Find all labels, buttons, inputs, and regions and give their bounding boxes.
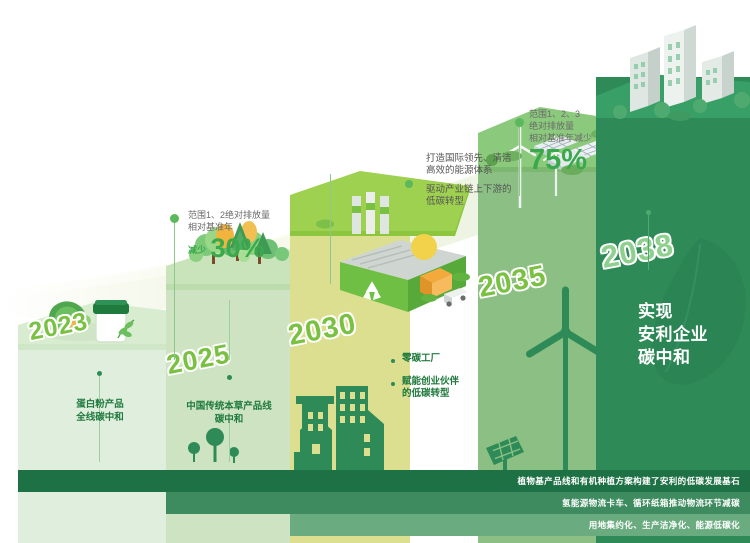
callout-30-line1: 范围1、2绝对排放量 [188, 209, 270, 221]
b2030-m2: 赋能创业伙伴 [402, 376, 459, 388]
band-tail-2025-b [166, 514, 290, 536]
callout-stem-30 [174, 222, 175, 360]
callout-scope123: 范围1、2、3 绝对排放量 相对基准年减少 75% [529, 108, 592, 175]
caption-tick-2038 [648, 214, 649, 270]
bullet-dot-partners [391, 382, 395, 386]
bottom-band-2-text: 氢能源物流卡车、循环纸箱推动物流环节减碳 [562, 497, 750, 509]
band-tail-2023-b [18, 514, 166, 536]
caption-2025-line1: 中国传统本草产品线 [156, 400, 302, 413]
caption-dot-2038 [646, 210, 651, 215]
bottom-band-3: 用地集约化、生产洁净化、能源低碳化 [290, 514, 750, 536]
caption-2023-line2: 全线碳中和 [30, 411, 170, 424]
caption-tick-2025b [229, 420, 230, 462]
callout-75-line2: 绝对排放量 [529, 120, 592, 132]
b2030-t3: 驱动产业链上下游的 [426, 184, 512, 196]
caption-2025-line2: 碳中和 [156, 413, 302, 426]
callout-scope12: 范围1、2绝对排放量 相对基准年 减少 30% [188, 209, 270, 262]
callout-stem-75 [519, 126, 520, 196]
b2030-m3: 的低碳转型 [402, 388, 459, 400]
callout-dot-75 [515, 118, 524, 127]
headline-line3: 碳中和 [638, 346, 708, 369]
bottom-band-1-text: 植物基产品线和有机种植方案构建了安利的低碳发展基石 [517, 475, 750, 487]
final-headline: 实现 安利企业 碳中和 [638, 300, 708, 369]
infographic-root: 2023 [0, 0, 750, 543]
caption-tick-2025 [229, 300, 230, 360]
b2030-t2: 高效的能源体系 [426, 165, 512, 177]
caption-2025: 中国传统本草产品线 碳中和 [156, 400, 302, 426]
callout-75-value: 75% [529, 145, 592, 175]
bottom-band-1: 植物基产品线和有机种植方案构建了安利的低碳发展基石 [18, 470, 750, 492]
callout-30-prefix: 减少 [188, 245, 206, 255]
bullet-dot-zero-carbon [391, 359, 395, 363]
band-tail-2023-a [18, 492, 166, 514]
b2030-t4: 低碳转型 [426, 196, 512, 208]
bullet-dot-2030-upper [405, 180, 413, 188]
bullet-stem-2030-upper [330, 174, 331, 284]
headline-line1: 实现 [638, 300, 708, 323]
callout-75-line1: 范围1、2、3 [529, 108, 592, 120]
callout-75-line3: 相对基准年减少 [529, 132, 592, 144]
b2030-m1: 零碳工厂 [402, 353, 459, 365]
callout-30-value: 30% [210, 233, 264, 263]
bottom-band-3-text: 用地集约化、生产洁净化、能源低碳化 [589, 519, 750, 531]
bullets-2030-mid: 零碳工厂 赋能创业伙伴 的低碳转型 [402, 353, 459, 400]
headline-line2: 安利企业 [638, 323, 708, 346]
bottom-band-2: 氢能源物流卡车、循环纸箱推动物流环节减碳 [166, 492, 750, 514]
caption-2023-line1: 蛋白粉产品 [30, 398, 170, 411]
caption-dot-2025 [227, 375, 232, 380]
callout-dot-30 [170, 214, 179, 223]
b2030-t1: 打造国际领先、清洁 [426, 153, 512, 165]
callout-30-line2: 相对基准年 [188, 221, 270, 233]
caption-2023: 蛋白粉产品 全线碳中和 [30, 398, 170, 424]
bullets-2030-top: 打造国际领先、清洁 高效的能源体系 驱动产业链上下游的 低碳转型 [426, 153, 512, 208]
